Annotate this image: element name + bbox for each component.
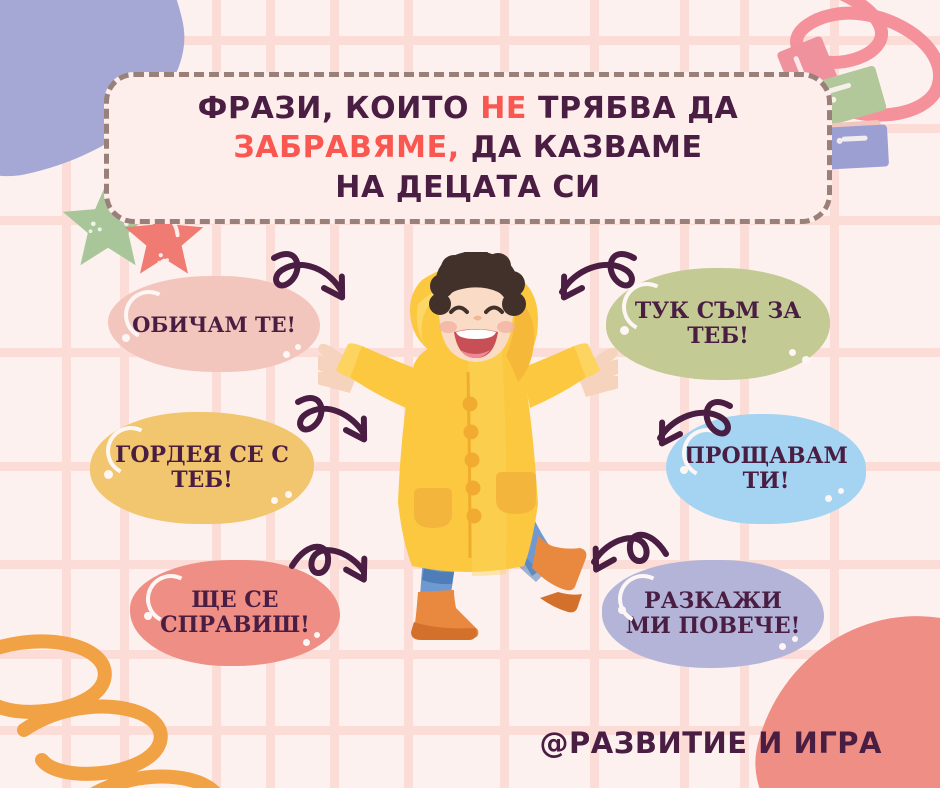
coat-button — [465, 453, 480, 468]
bubble-dot — [802, 356, 810, 364]
coat-button — [464, 425, 479, 440]
title-panel: ФРАЗИ, КОИТО НЕ ТРЯБВА ДА ЗАБРАВЯМЕ, ДА … — [104, 72, 832, 224]
title-line3: НА ДЕЦАТА СИ — [335, 170, 600, 205]
bubble-dot — [825, 495, 832, 502]
bubble-dot — [618, 606, 626, 614]
title-line2-highlight: ЗАБРАВЯМЕ, — [233, 130, 459, 165]
coat-pocket — [496, 472, 536, 514]
bubble-dot — [779, 643, 786, 650]
bubble-dot — [295, 344, 301, 350]
bubble-dot — [838, 488, 844, 494]
left-cheek — [439, 321, 457, 333]
bubble-dot — [792, 636, 798, 642]
coat-button — [467, 509, 482, 524]
title-line1-part2: ТРЯБВА ДА — [527, 91, 738, 126]
title-line1-highlight: НЕ — [480, 91, 527, 126]
child-in-yellow-raincoat-illustration — [318, 252, 618, 644]
poster-canvas: ФРАЗИ, КОИТО НЕ ТРЯБВА ДА ЗАБРАВЯМЕ, ДА … — [0, 0, 940, 788]
title-line1-part1: ФРАЗИ, КОИТО — [198, 91, 481, 126]
title-line2-part2: ДА КАЗВАМЕ — [460, 130, 703, 165]
bubble-dot — [144, 612, 152, 620]
bubble-dot — [104, 470, 113, 479]
coat-button — [463, 397, 478, 412]
right-cheek — [497, 321, 515, 333]
coat-pocket — [414, 488, 452, 528]
bubble-proud-of-you[interactable]: ГОРДЕЯ СЕ С ТЕБ! — [90, 412, 314, 524]
bubble-dot — [303, 639, 310, 646]
page-title: ФРАЗИ, КОИТО НЕ ТРЯБВА ДА ЗАБРАВЯМЕ, ДА … — [176, 89, 761, 208]
coat-button — [466, 481, 481, 496]
curly-arrow-icon — [642, 394, 746, 472]
bubble-dot — [789, 349, 796, 356]
bubble-dot — [271, 497, 278, 504]
bubble-dot — [122, 334, 130, 342]
blue-card-decoration — [825, 124, 889, 169]
bubble-dot — [283, 351, 290, 358]
bubble-dot — [285, 491, 292, 498]
watermark: @РАЗВИТИЕ И ИГРА — [540, 726, 882, 760]
